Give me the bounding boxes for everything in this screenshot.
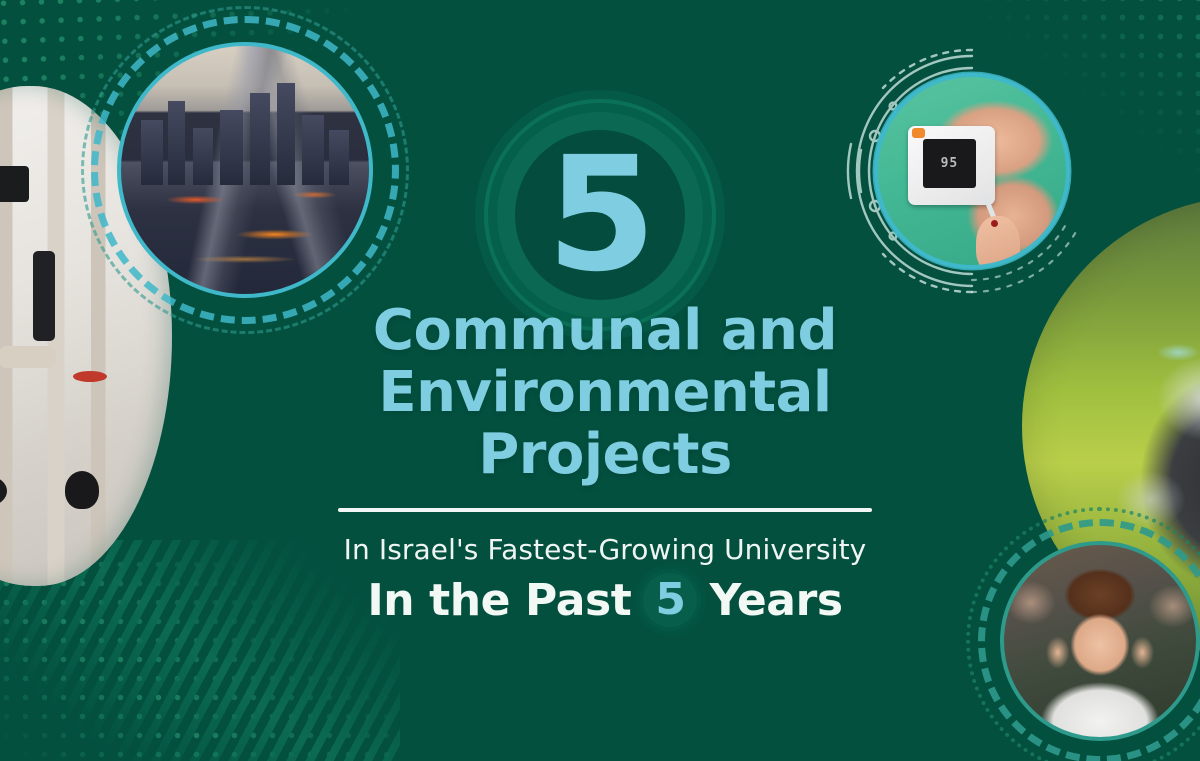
glucometer-body xyxy=(908,126,994,205)
tagline-number-badge: 5 xyxy=(643,573,697,627)
halftone-dots-top-left-icon xyxy=(0,0,386,287)
glucometer-reading: 95 xyxy=(923,139,976,188)
striped-arc-outer-icon xyxy=(985,156,1200,696)
building-4 xyxy=(220,110,242,184)
glucometer-orange-button xyxy=(912,128,925,138)
photo-ophthalmic-slit-lamp xyxy=(0,86,172,586)
photo-glucose-meter-group: 95 xyxy=(874,73,1070,269)
text-content: Communal and Environmental Projects In I… xyxy=(300,300,910,627)
photo-city-highway-group xyxy=(117,42,373,298)
building-6 xyxy=(277,83,294,185)
glucometer-screen xyxy=(923,139,976,188)
photo-child-covering-ears xyxy=(1000,541,1200,741)
badge-number: 5 xyxy=(497,112,703,318)
device-part-b xyxy=(33,251,55,341)
building-7 xyxy=(302,115,324,184)
dashed-ring-child-icon xyxy=(978,519,1200,761)
tagline: In the Past 5 Years xyxy=(300,573,910,627)
photo-plastic-bottle-collection xyxy=(1022,196,1200,656)
building-5 xyxy=(250,93,270,185)
glucometer-blood-drop xyxy=(991,220,998,227)
device-cylinder xyxy=(0,346,56,368)
dashed-ring-outer-icon xyxy=(81,6,409,334)
fingerprint-ring-glucometer-icon xyxy=(841,40,1103,302)
tagline-before: In the Past xyxy=(367,575,631,626)
headline-line-1: Communal and xyxy=(300,300,910,362)
device-red-ring xyxy=(73,371,107,382)
subtitle: In Israel's Fastest-Growing University xyxy=(300,533,910,566)
dotted-ring-child-icon xyxy=(966,507,1200,761)
device-part-d xyxy=(0,476,7,506)
building-2 xyxy=(168,101,185,185)
glucometer-test-strip xyxy=(982,194,996,220)
headline-line-2: Environmental xyxy=(300,362,910,424)
photo-child-group xyxy=(1000,541,1200,741)
photo-city-highway-interchange xyxy=(117,42,373,298)
infographic-banner: 95 5 Communal and Environmental Projects… xyxy=(0,0,1200,761)
building-8 xyxy=(329,130,349,185)
headline-line-3: Projects xyxy=(300,424,910,486)
tagline-number: 5 xyxy=(655,578,685,622)
divider-rule xyxy=(338,508,872,512)
photo-blood-glucose-meter: 95 xyxy=(874,73,1070,269)
building-1 xyxy=(141,120,163,184)
building-3 xyxy=(193,128,213,185)
device-part-a xyxy=(0,166,29,202)
halftone-dots-top-right-icon xyxy=(980,0,1200,230)
striped-arc-right-icon xyxy=(1005,176,1200,676)
tagline-after: Years xyxy=(709,575,842,626)
device-part-e xyxy=(65,471,99,509)
glucometer-finger xyxy=(976,216,1020,269)
diagonal-stripes-top-left-icon xyxy=(0,130,300,370)
dashed-ring-city-icon xyxy=(91,16,399,324)
number-badge: 5 xyxy=(497,112,703,318)
